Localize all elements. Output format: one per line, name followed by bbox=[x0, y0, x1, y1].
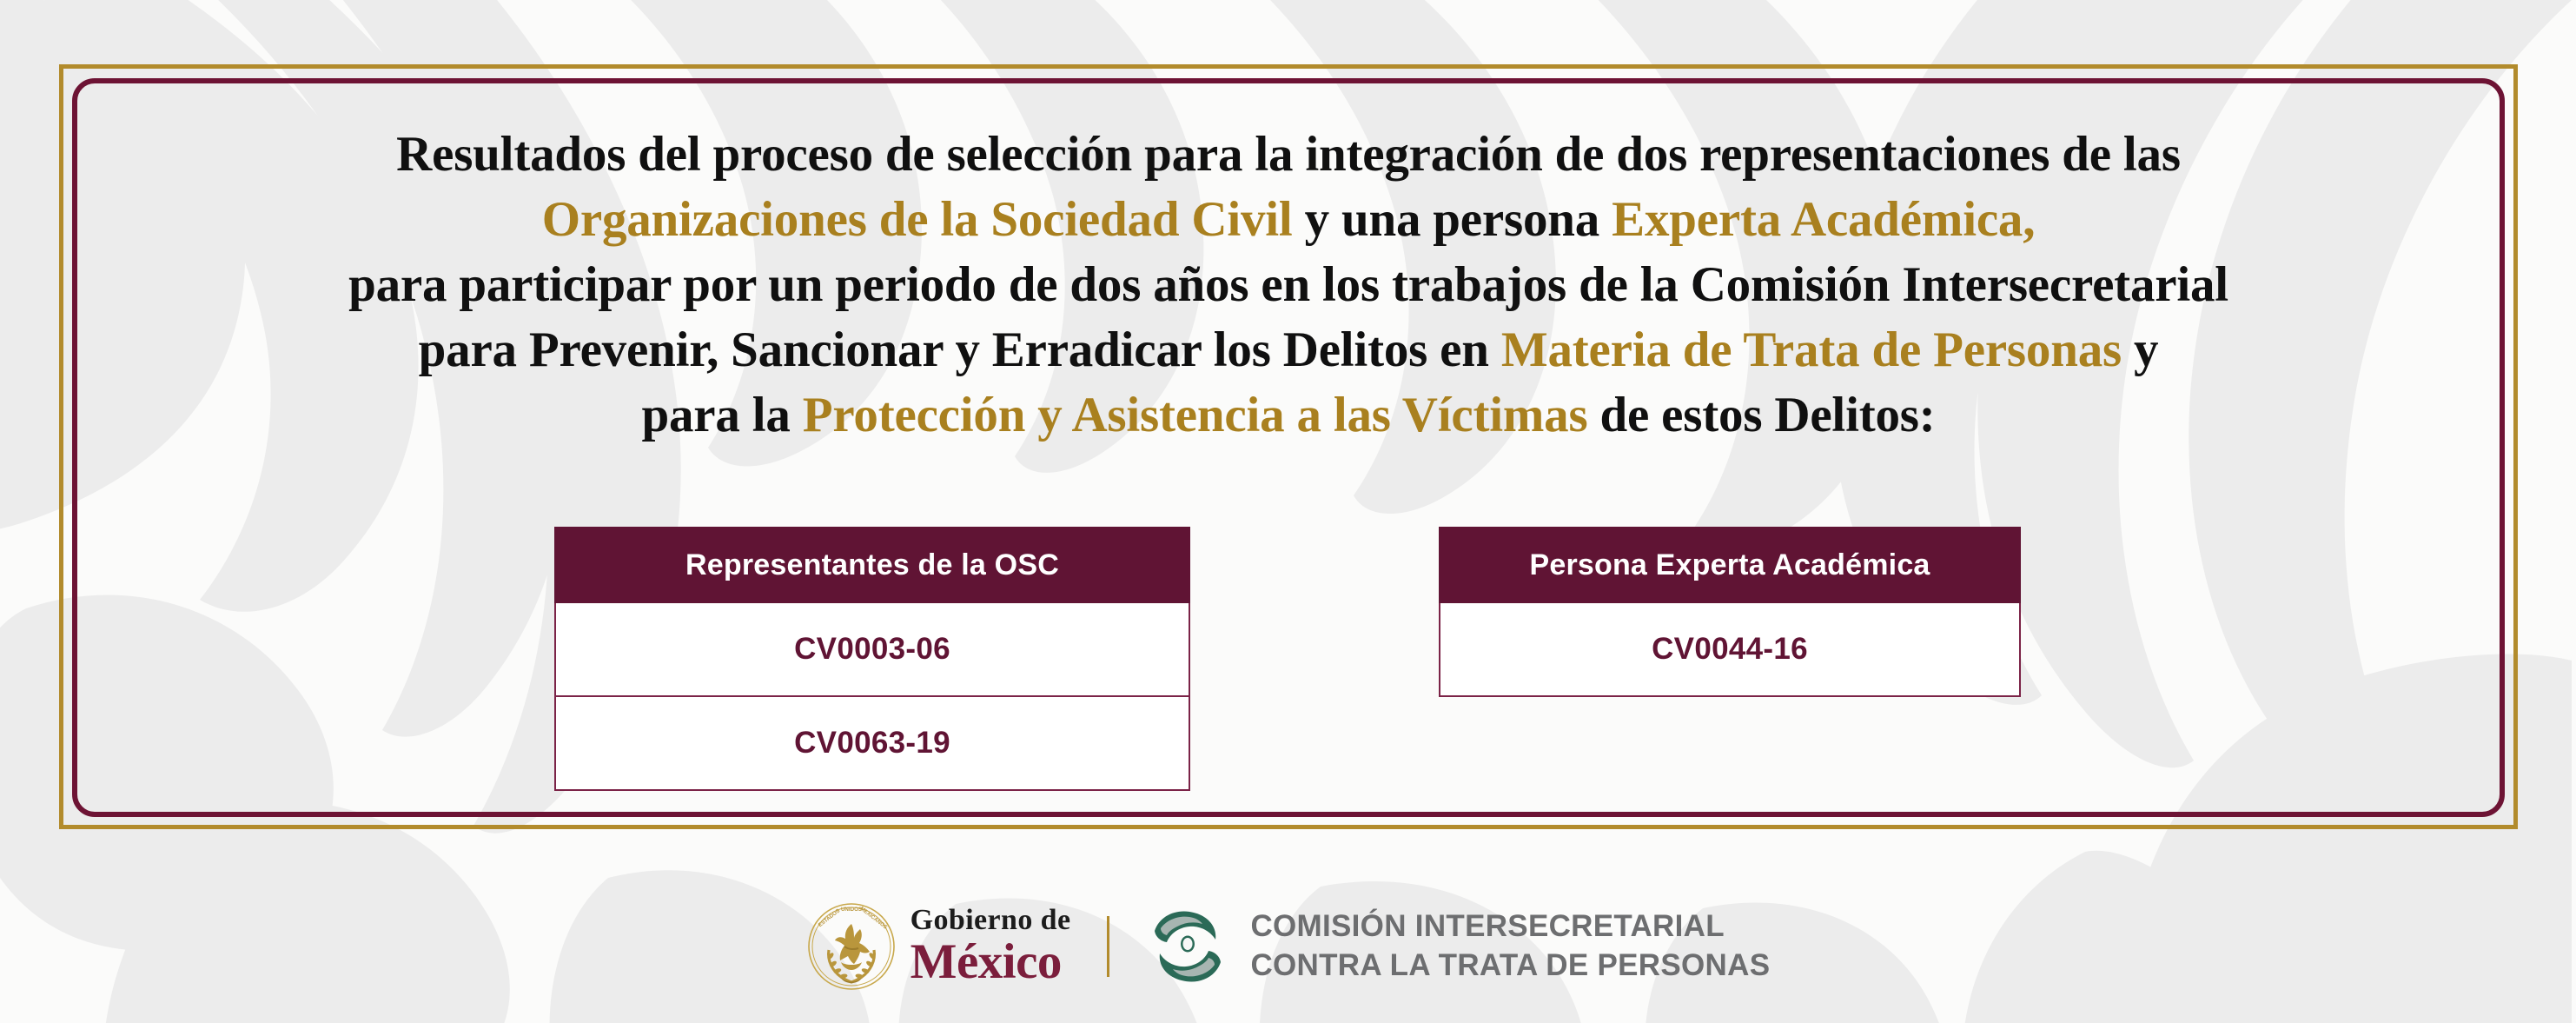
table-cell-folio: CV0003-06 bbox=[555, 602, 1189, 696]
footer-logo-bar: ESTADOS UNIDOS MEXICANOS bbox=[0, 869, 2576, 1023]
headline-line-2: Organizaciones de la Sociedad Civil y un… bbox=[72, 187, 2505, 252]
gobierno-line1: Gobierno de bbox=[911, 906, 1071, 935]
headline-text: y una persona bbox=[1293, 192, 1612, 247]
headline-text: para la bbox=[641, 388, 802, 442]
gobierno-wordmark: Gobierno de México bbox=[911, 906, 1071, 986]
results-table-osc: Representantes de la OSC CV0003-06 CV006… bbox=[554, 527, 1190, 791]
table-header-cell: Persona Experta Académica bbox=[1440, 528, 2020, 602]
table-row: CV0044-16 bbox=[1440, 602, 2020, 696]
mexico-coat-of-arms-icon: ESTADOS UNIDOS MEXICANOS bbox=[806, 901, 897, 992]
headline-text: de estos Delitos: bbox=[1587, 388, 1935, 442]
table-header-row: Persona Experta Académica bbox=[1440, 528, 2020, 602]
headline-block: Resultados del proceso de selección para… bbox=[72, 122, 2505, 448]
comision-wordmark: COMISIÓN INTERSECRETARIAL CONTRA LA TRAT… bbox=[1250, 907, 1770, 986]
headline-text: para participar por un periodo de dos añ… bbox=[348, 257, 2228, 312]
results-table-academica: Persona Experta Académica CV0044-16 bbox=[1439, 527, 2021, 697]
table-header-cell: Representantes de la OSC bbox=[555, 528, 1189, 602]
headline-line-4: para Prevenir, Sancionar y Erradicar los… bbox=[72, 317, 2505, 382]
banner-page: Resultados del proceso de selección para… bbox=[0, 0, 2576, 1023]
headline-highlight: Organizaciones de la Sociedad Civil bbox=[542, 192, 1293, 247]
headline-highlight: Experta Académica, bbox=[1612, 192, 2035, 247]
headline-highlight: Protección y Asistencia a las Víctimas bbox=[803, 388, 1588, 442]
headline-text: y bbox=[2122, 322, 2158, 377]
comision-line1: COMISIÓN INTERSECRETARIAL bbox=[1250, 907, 1770, 947]
table-cell-folio: CV0044-16 bbox=[1440, 602, 2020, 696]
table-row: CV0003-06 bbox=[555, 602, 1189, 696]
comision-line2: CONTRA LA TRATA DE PERSONAS bbox=[1250, 947, 1770, 986]
cittp-embrace-icon bbox=[1146, 905, 1229, 988]
table-cell-folio: CV0063-19 bbox=[555, 696, 1189, 790]
headline-text: Resultados del proceso de selección para… bbox=[396, 127, 2181, 182]
table-row: CV0063-19 bbox=[555, 696, 1189, 790]
comision-logo: COMISIÓN INTERSECRETARIAL CONTRA LA TRAT… bbox=[1146, 905, 1770, 988]
headline-highlight: Materia de Trata de Personas bbox=[1501, 322, 2122, 377]
headline-line-1: Resultados del proceso de selección para… bbox=[72, 122, 2505, 187]
gobierno-de-mexico-logo: ESTADOS UNIDOS MEXICANOS bbox=[806, 901, 1071, 992]
table-header-row: Representantes de la OSC bbox=[555, 528, 1189, 602]
headline-line-5: para la Protección y Asistencia a las Ví… bbox=[72, 382, 2505, 448]
headline-text: para Prevenir, Sancionar y Erradicar los… bbox=[419, 322, 1501, 377]
headline-line-3: para participar por un periodo de dos añ… bbox=[72, 252, 2505, 317]
gobierno-line2: México bbox=[911, 937, 1071, 986]
footer-divider bbox=[1107, 916, 1109, 977]
